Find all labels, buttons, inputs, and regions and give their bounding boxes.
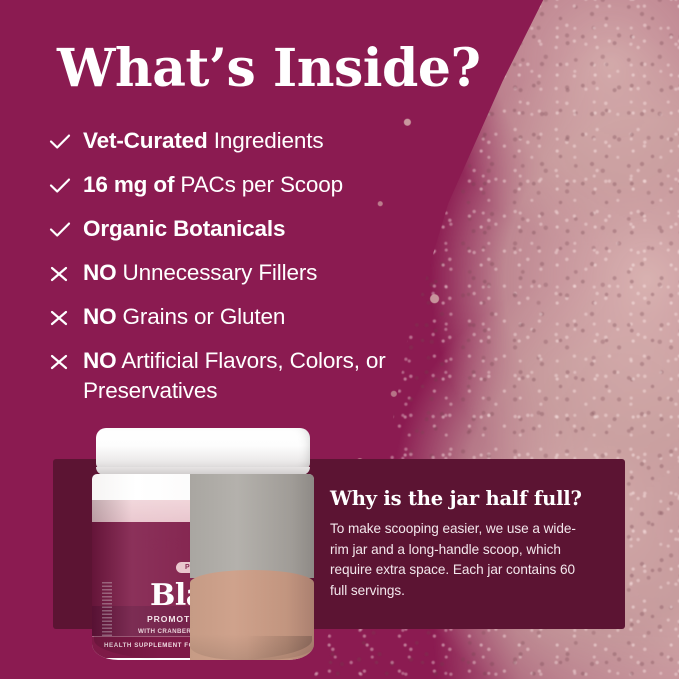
cross-icon — [49, 258, 83, 288]
jar-cutaway-view — [190, 474, 314, 660]
list-item-text: 16 mg of PACs per Scoop — [83, 170, 343, 200]
page-title: What’s Inside? — [57, 42, 480, 97]
list-item-rest: PACs per Scoop — [174, 172, 343, 197]
list-item: Organic Botanicals — [49, 214, 479, 244]
list-item: Vet-Curated Ingredients — [49, 126, 479, 156]
info-card-body: To make scooping easier, we use a wide-r… — [330, 519, 588, 601]
check-icon — [49, 126, 83, 156]
product-jar-image: fera POW Blac PROMOTES BLA WITH CRANBERR… — [92, 428, 314, 660]
list-item-text: NO Grains or Gluten — [83, 302, 285, 332]
list-item-emphasis: NO — [83, 348, 116, 373]
list-item-text: Organic Botanicals — [83, 214, 285, 244]
list-item-rest: Ingredients — [208, 128, 324, 153]
list-item-emphasis: 16 mg of — [83, 172, 174, 197]
jar-lid — [96, 428, 310, 470]
list-item-emphasis: Organic Botanicals — [83, 216, 285, 241]
list-item-emphasis: NO — [83, 260, 116, 285]
list-item-rest: Grains or Gluten — [116, 304, 285, 329]
benefit-list: Vet-Curated Ingredients 16 mg of PACs pe… — [49, 126, 479, 420]
list-item: NO Artificial Flavors, Colors, or Preser… — [49, 346, 479, 406]
list-item: NO Grains or Gluten — [49, 302, 479, 332]
list-item: NO Unnecessary Fillers — [49, 258, 479, 288]
cross-icon — [49, 302, 83, 332]
info-card-title: Why is the jar half full? — [330, 487, 582, 510]
list-item-emphasis: NO — [83, 304, 116, 329]
check-icon — [49, 214, 83, 244]
list-item-text: NO Unnecessary Fillers — [83, 258, 317, 288]
list-item-rest: Unnecessary Fillers — [116, 260, 317, 285]
list-item: 16 mg of PACs per Scoop — [49, 170, 479, 200]
list-item-rest: Artificial Flavors, Colors, or Preservat… — [83, 348, 386, 403]
check-icon — [49, 170, 83, 200]
jar-powder-fill — [190, 570, 314, 660]
jar-body: fera POW Blac PROMOTES BLA WITH CRANBERR… — [92, 474, 314, 660]
product-infographic: What’s Inside? Vet-Curated Ingredients 1… — [0, 0, 679, 679]
list-item-text: NO Artificial Flavors, Colors, or Preser… — [83, 346, 479, 406]
list-item-text: Vet-Curated Ingredients — [83, 126, 323, 156]
jar-empty-headspace — [190, 474, 314, 578]
cross-icon — [49, 346, 83, 376]
list-item-emphasis: Vet-Curated — [83, 128, 208, 153]
